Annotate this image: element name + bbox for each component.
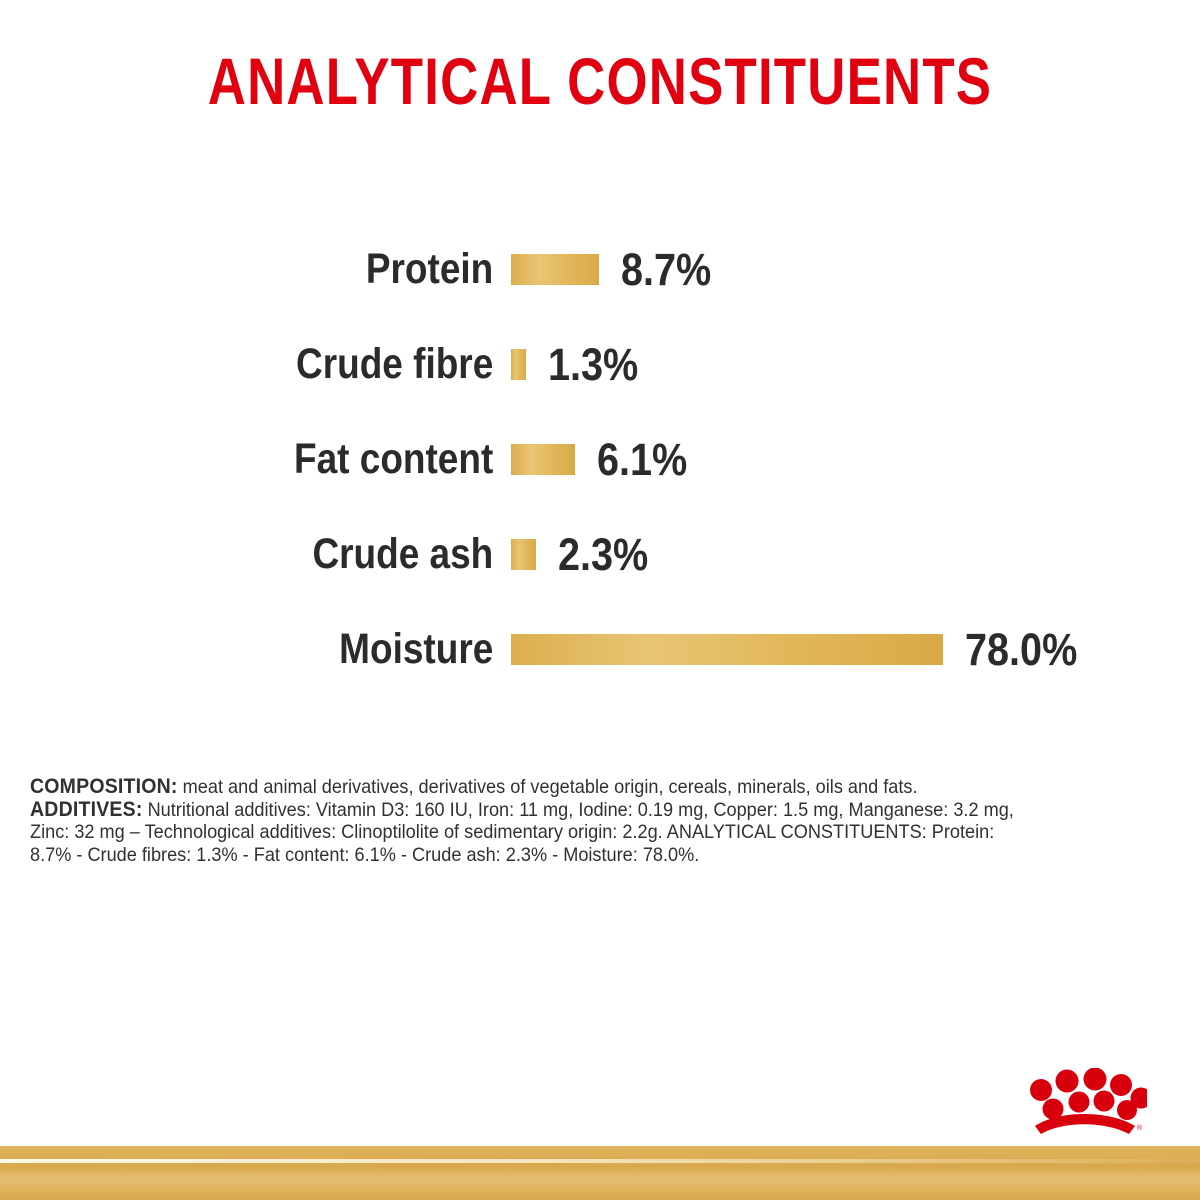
bar-wrap-protein: 8.7% — [511, 244, 724, 296]
bar-value-protein: 8.7% — [621, 244, 711, 296]
bar-wrap-crude-fibre: 1.3% — [511, 339, 651, 391]
gold-band-highlight-streak — [0, 1159, 1200, 1163]
bar-protein — [511, 254, 599, 285]
bar-wrap-moisture: 78.0% — [511, 624, 1093, 676]
bar-wrap-crude-ash: 2.3% — [511, 529, 661, 581]
royal-canin-crown-icon: ® — [1025, 1068, 1147, 1136]
composition-heading: COMPOSITION: — [30, 775, 178, 798]
composition-text: meat and animal derivatives, derivatives… — [178, 776, 918, 798]
composition-paragraph: COMPOSITION: meat and animal derivatives… — [30, 776, 1039, 799]
bar-label-crude-fibre: Crude fibre — [69, 340, 495, 389]
bar-label-crude-ash: Crude ash — [69, 530, 495, 579]
additives-heading: ADDITIVES: — [30, 798, 143, 821]
bar-label-moisture: Moisture — [69, 625, 495, 674]
bar-moisture — [511, 634, 943, 665]
chart-row-crude-fibre: Crude fibre 1.3% — [0, 317, 1200, 412]
additives-text: Nutritional additives: Vitamin D3: 160 I… — [30, 799, 1014, 866]
bar-crude-ash — [511, 539, 536, 570]
bottom-gold-band — [0, 1146, 1200, 1200]
bar-fat-content — [511, 444, 575, 475]
bar-label-fat-content: Fat content — [69, 435, 495, 484]
chart-row-protein: Protein 8.7% — [0, 222, 1200, 317]
chart-row-fat-content: Fat content 6.1% — [0, 412, 1200, 507]
page-title: ANALYTICAL CONSTITUENTS — [120, 48, 1080, 114]
bar-value-moisture: 78.0% — [965, 624, 1077, 676]
bar-label-protein: Protein — [69, 245, 495, 294]
bar-wrap-fat-content: 6.1% — [511, 434, 700, 486]
bar-value-crude-fibre: 1.3% — [548, 339, 638, 391]
chart-row-moisture: Moisture 78.0% — [0, 602, 1200, 697]
analytical-constituents-chart: Protein 8.7% Crude fibre 1.3% Fat conten… — [0, 222, 1200, 697]
chart-row-crude-ash: Crude ash 2.3% — [0, 507, 1200, 602]
footnote-block: COMPOSITION: meat and animal derivatives… — [30, 776, 1039, 866]
bar-crude-fibre — [511, 349, 526, 380]
bar-value-fat-content: 6.1% — [597, 434, 687, 486]
additives-paragraph: ADDITIVES: Nutritional additives: Vitami… — [30, 799, 1039, 867]
bar-value-crude-ash: 2.3% — [558, 529, 648, 581]
trademark-symbol: ® — [1137, 1124, 1143, 1132]
